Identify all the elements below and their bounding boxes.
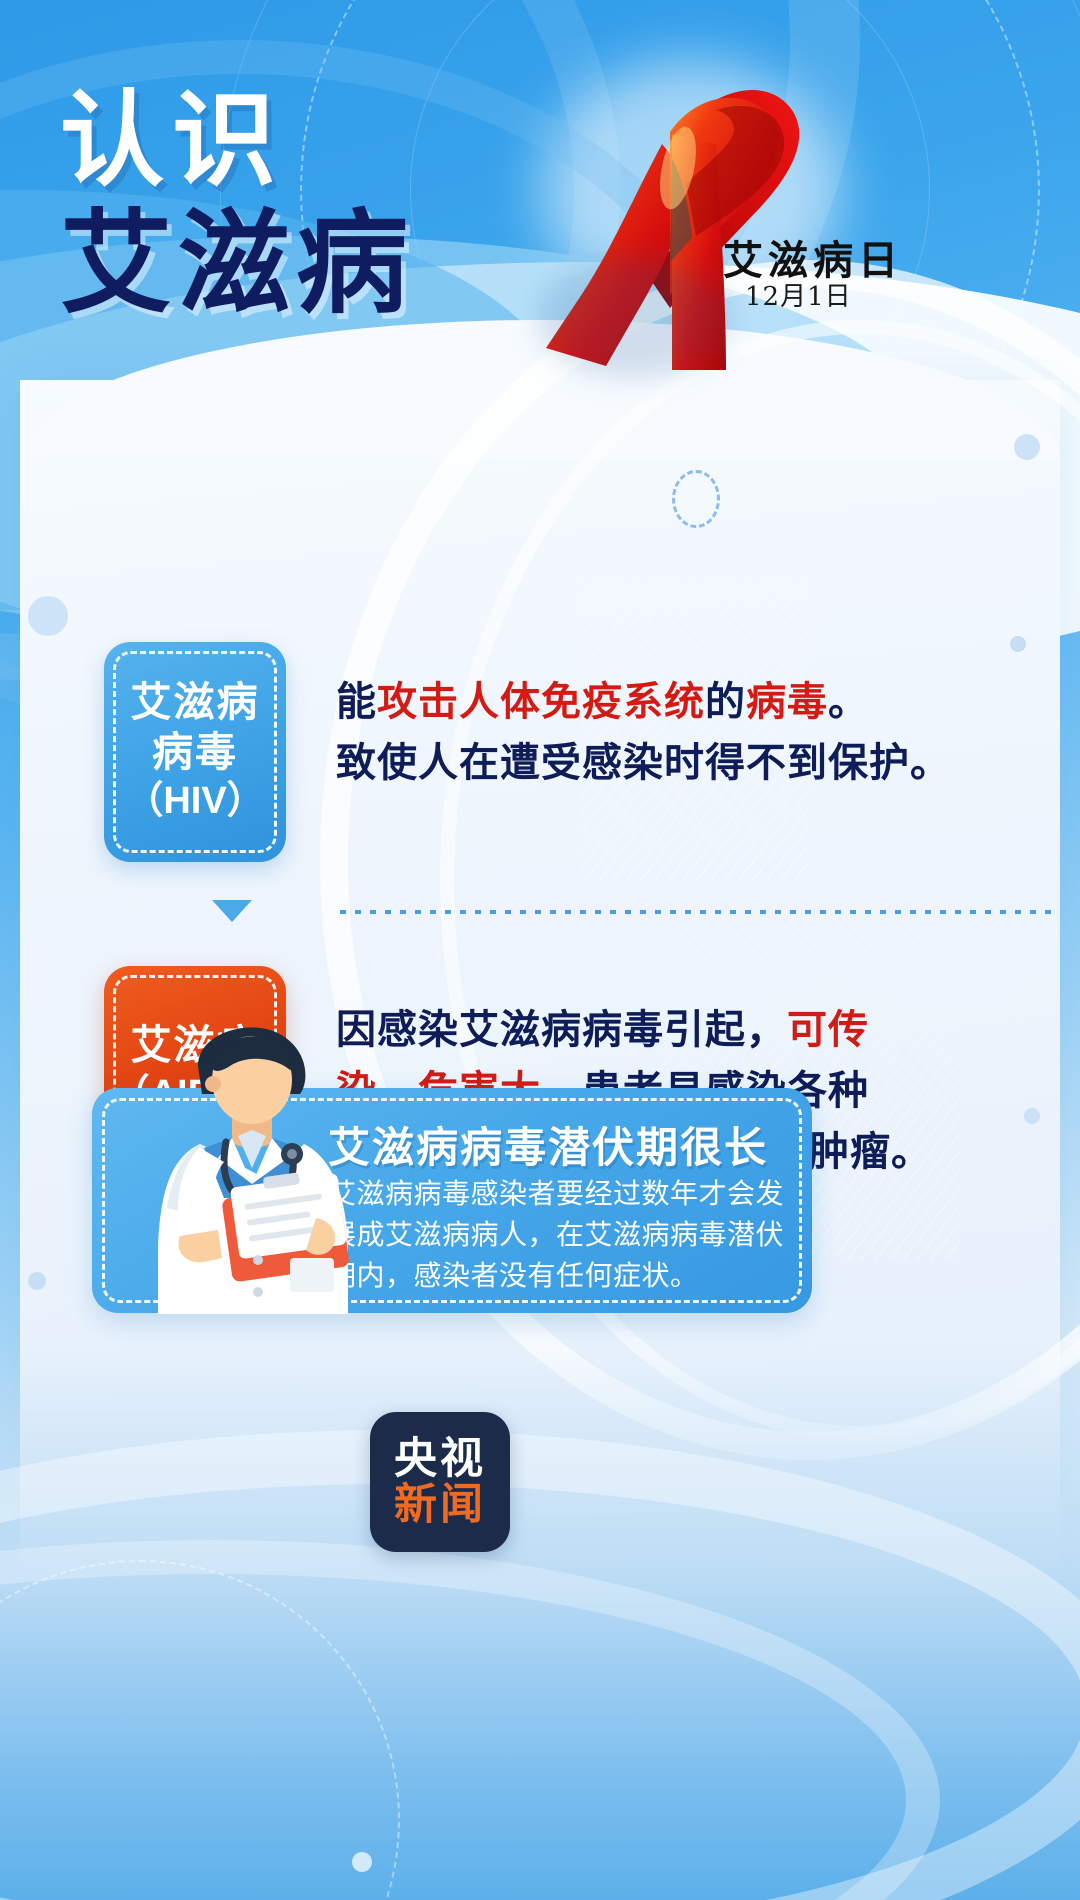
aids-ribbon-icon (520, 48, 820, 378)
doctor-illustration (140, 1008, 390, 1318)
paragraph-hiv-line-1: 能攻击人体免疫系统的病毒。 (336, 672, 1036, 733)
seg-hl: 可传 (787, 1007, 869, 1053)
badge-hiv-line2: 病毒 (152, 727, 238, 777)
seg: 致使人在遭受感染时得不到保护。 (336, 740, 951, 786)
logo-line2: 新闻 (394, 1482, 486, 1528)
paragraph-aids-line-1: 因感染艾滋病病毒引起，可传 (336, 1000, 1036, 1061)
badge-hiv-line1: 艾滋病 (131, 677, 260, 727)
arrow-down-icon (212, 900, 252, 922)
seg: 的 (705, 679, 746, 725)
latency-card-heading: 艾滋病病毒潜伏期很长 (328, 1114, 768, 1175)
dot-deco-6 (352, 1852, 372, 1872)
page-title-line1: 认识 (60, 88, 284, 192)
poster-header: 认识 艾滋病 (0, 0, 1080, 400)
seg: 。 (828, 679, 869, 725)
page-title-line2: 艾滋病 (60, 208, 414, 320)
dashed-circle-deco (672, 470, 720, 528)
world-aids-day-date: 12月1日 (745, 276, 852, 313)
badge-hiv-code: （HIV） (125, 777, 264, 826)
logo-line1: 央视 (394, 1436, 486, 1482)
poster-root: 认识 艾滋病 (0, 0, 1080, 1900)
seg: 能 (336, 679, 377, 725)
dot-deco-1 (28, 596, 68, 636)
latency-card-body: 艾滋病病毒感染者要经过数年才会发展成艾滋病病人，在艾滋病病毒潜伏期内，感染者没有… (328, 1174, 806, 1297)
seg: 因感染艾滋病病毒引起， (336, 1007, 787, 1053)
doctor-svg (140, 1008, 390, 1318)
seg-hl: 攻击人体免疫系统 (377, 679, 705, 725)
ribbon-shadow (538, 258, 728, 378)
paragraph-hiv: 能攻击人体免疫系统的病毒。 致使人在遭受感染时得不到保护。 (336, 672, 1036, 794)
badge-hiv[interactable]: 艾滋病 病毒 （HIV） (104, 642, 286, 862)
paragraph-hiv-line-2: 致使人在遭受感染时得不到保护。 (336, 733, 1036, 794)
dot-deco-4 (28, 1272, 46, 1290)
dot-deco-2 (1014, 434, 1040, 460)
dot-deco-3 (1010, 636, 1026, 652)
cctv-news-logo[interactable]: 央视 新闻 (370, 1412, 510, 1552)
section-divider (340, 910, 1058, 914)
seg-hl: 病毒 (746, 679, 828, 725)
